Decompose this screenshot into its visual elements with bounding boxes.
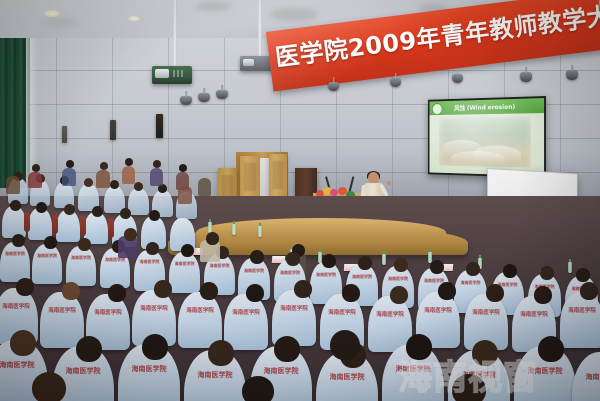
presenter-hand <box>387 181 391 185</box>
water-bottle <box>382 254 386 265</box>
chair-cover-text: 海南医学院 <box>140 304 168 312</box>
chair-cover-text: 海南医学院 <box>5 251 25 257</box>
audience-head <box>120 208 131 219</box>
wall-speaker <box>110 120 116 140</box>
audience-person <box>150 168 163 186</box>
chair-cover-text: 海南医学院 <box>175 261 195 267</box>
audience-head <box>32 164 40 172</box>
chair-cover-text: 海南医学院 <box>210 263 230 269</box>
stage-light <box>216 90 228 99</box>
chair-cover-text: 海南医学院 <box>132 364 167 374</box>
audience-head <box>200 282 218 300</box>
projection-screen: 风蚀 (Wind erosion) <box>428 96 546 178</box>
chair-cover-text: 海南医学院 <box>424 306 452 314</box>
ceiling-stain <box>40 18 80 27</box>
audience-person <box>178 186 192 204</box>
chair-frame <box>52 214 58 234</box>
stage-light <box>520 72 532 82</box>
water-bottle <box>232 224 236 235</box>
audience-head <box>153 160 161 168</box>
projector-pole <box>258 0 262 58</box>
audience-head <box>274 336 300 362</box>
chair-cover-text: 海南医学院 <box>376 310 404 318</box>
wall-speaker <box>62 126 67 143</box>
audience-head <box>580 282 598 300</box>
audience-head <box>154 280 172 298</box>
audience-head <box>208 340 234 366</box>
chair-cover-text: 海南医学院 <box>520 310 548 318</box>
projector-vent <box>177 70 179 77</box>
chair-frame <box>108 218 114 238</box>
chair-cover-text: 海南医学院 <box>0 360 35 370</box>
chair-cover-text: 海南医学院 <box>568 306 596 314</box>
mount-plate <box>243 59 254 66</box>
ceiling-stain <box>196 2 232 11</box>
door-panel <box>272 160 284 190</box>
audience-chair: 海南医学院 <box>66 246 96 286</box>
ceiling-light <box>44 10 60 17</box>
audience-head <box>142 334 168 360</box>
stage-light <box>566 70 578 80</box>
audience-head <box>44 236 57 249</box>
chair-cover-text: 海南医学院 <box>140 259 160 265</box>
audience-head <box>12 234 25 247</box>
ceiling-projector <box>152 66 192 84</box>
wall-speaker <box>156 114 163 138</box>
audience-head <box>181 244 194 257</box>
chair-cover-text: 海南医学院 <box>316 272 336 278</box>
audience-head <box>10 200 21 211</box>
chair-cover-text: 海南医学院 <box>388 276 408 282</box>
audience-head-foreground <box>32 372 66 401</box>
stage-light <box>180 96 192 105</box>
audience-head <box>149 210 160 221</box>
audience-chair <box>128 188 149 215</box>
audience-person <box>198 178 211 196</box>
screen-glow <box>430 98 545 176</box>
audience-head <box>342 284 360 302</box>
chair-cover-text: 海南医学院 <box>244 268 264 274</box>
audience-head <box>134 182 143 191</box>
projector-pole <box>173 0 177 68</box>
audience-head <box>76 336 102 362</box>
chair-cover-text: 海南医学院 <box>198 370 233 380</box>
audience-person <box>6 176 20 194</box>
projector-lens <box>155 69 169 78</box>
audience-head <box>322 254 336 268</box>
audience-head <box>406 334 432 360</box>
audience-head <box>146 242 159 255</box>
audience-head <box>250 250 264 264</box>
audience-head <box>472 340 498 366</box>
chair-cover-text: 海南医学院 <box>280 304 308 312</box>
audience-head <box>179 164 187 172</box>
chair-cover-text: 海南医学院 <box>586 372 600 382</box>
projector-vent <box>181 70 183 77</box>
stage-light <box>198 93 210 102</box>
stage-light <box>328 82 339 91</box>
audience-person <box>28 172 42 188</box>
audience-person <box>96 170 110 188</box>
projector-vent <box>173 70 175 77</box>
audience-head <box>62 282 80 300</box>
chair-cover-text: 海南医学院 <box>461 280 481 286</box>
audience-chair: 海南医学院 <box>169 252 200 293</box>
audience-head <box>390 286 408 304</box>
audience-head <box>64 204 75 215</box>
audience-head <box>66 160 74 168</box>
water-bottle <box>258 226 262 237</box>
chair-cover-text: 海南医学院 <box>396 364 431 374</box>
audience-head <box>124 228 137 241</box>
chair-cover-text: 海南医学院 <box>352 274 372 280</box>
ceiling-light <box>128 16 140 21</box>
projection-screen-surface: 风蚀 (Wind erosion) <box>430 98 545 176</box>
chair-cover-text: 海南医学院 <box>232 308 260 316</box>
audience-head <box>358 256 372 270</box>
audience-head <box>125 158 133 166</box>
audience-chair: 海南医学院 <box>224 294 268 350</box>
audience-head <box>206 232 219 245</box>
audience-head-foreground <box>330 330 360 360</box>
audience-head-foreground <box>452 374 486 401</box>
audience-head <box>503 264 517 278</box>
flower-petal <box>330 189 338 196</box>
audience-head <box>78 238 91 251</box>
chair-cover-text: 海南医学院 <box>186 306 214 314</box>
stage-light <box>452 74 463 83</box>
chair-cover-text: 海南医学院 <box>94 308 122 316</box>
audience-head <box>110 180 119 189</box>
audience-head <box>576 268 590 282</box>
chair-frame <box>80 216 86 236</box>
audience-head <box>36 202 47 213</box>
ceiling-stain <box>270 8 318 21</box>
audience-head <box>10 330 36 356</box>
chair-cover-text: 海南医学院 <box>328 308 356 316</box>
audience-head <box>534 286 552 304</box>
chair-cover-text: 海南医学院 <box>472 308 500 316</box>
audience-head <box>486 284 504 302</box>
chair-cover-text: 海南医学院 <box>2 302 30 310</box>
audience-head <box>100 162 108 170</box>
audience-person <box>122 166 135 184</box>
chair-cover-text: 海南医学院 <box>264 366 299 376</box>
audience-head <box>92 206 103 217</box>
audience-chair: 海南医学院 <box>178 292 222 348</box>
water-bottle <box>568 262 572 273</box>
chair-cover-text: 海南医学院 <box>71 255 91 261</box>
audience-person <box>62 168 76 186</box>
audience-head <box>108 284 126 302</box>
chair-frame <box>24 212 30 232</box>
audience-head <box>16 278 34 296</box>
chair-cover-text: 海南医学院 <box>48 306 76 314</box>
audience-head <box>540 266 554 280</box>
audience-head <box>246 284 264 302</box>
audience-chair: 海南医学院 <box>560 292 600 348</box>
audience-head-foreground <box>242 376 274 401</box>
audience-chair: 海南医学院 <box>0 242 30 282</box>
audience-head <box>538 336 564 362</box>
chair-cover-text: 海南医学院 <box>66 366 101 376</box>
audience-head <box>438 282 456 300</box>
audience-head <box>394 258 408 272</box>
audience-head <box>286 252 300 266</box>
audience-chair: 海南医学院 <box>32 244 62 284</box>
audience-head <box>294 280 312 298</box>
audience-head <box>84 178 93 187</box>
audience-chair: 海南医学院 <box>40 292 84 348</box>
door-panel <box>243 162 257 192</box>
auditorium-photo: 医学院2009年青年教师教学大赛 风蚀 (Wind erosion) <box>0 0 600 401</box>
audience-head <box>430 260 444 274</box>
stage-light <box>390 78 401 87</box>
chair-cover-text: 海南医学院 <box>37 253 57 259</box>
audience-head <box>466 262 480 276</box>
chair-cover-text: 海南医学院 <box>528 366 563 376</box>
chair-cover-text: 海南医学院 <box>330 372 365 382</box>
chair-cover-text: 海南医学院 <box>280 270 300 276</box>
